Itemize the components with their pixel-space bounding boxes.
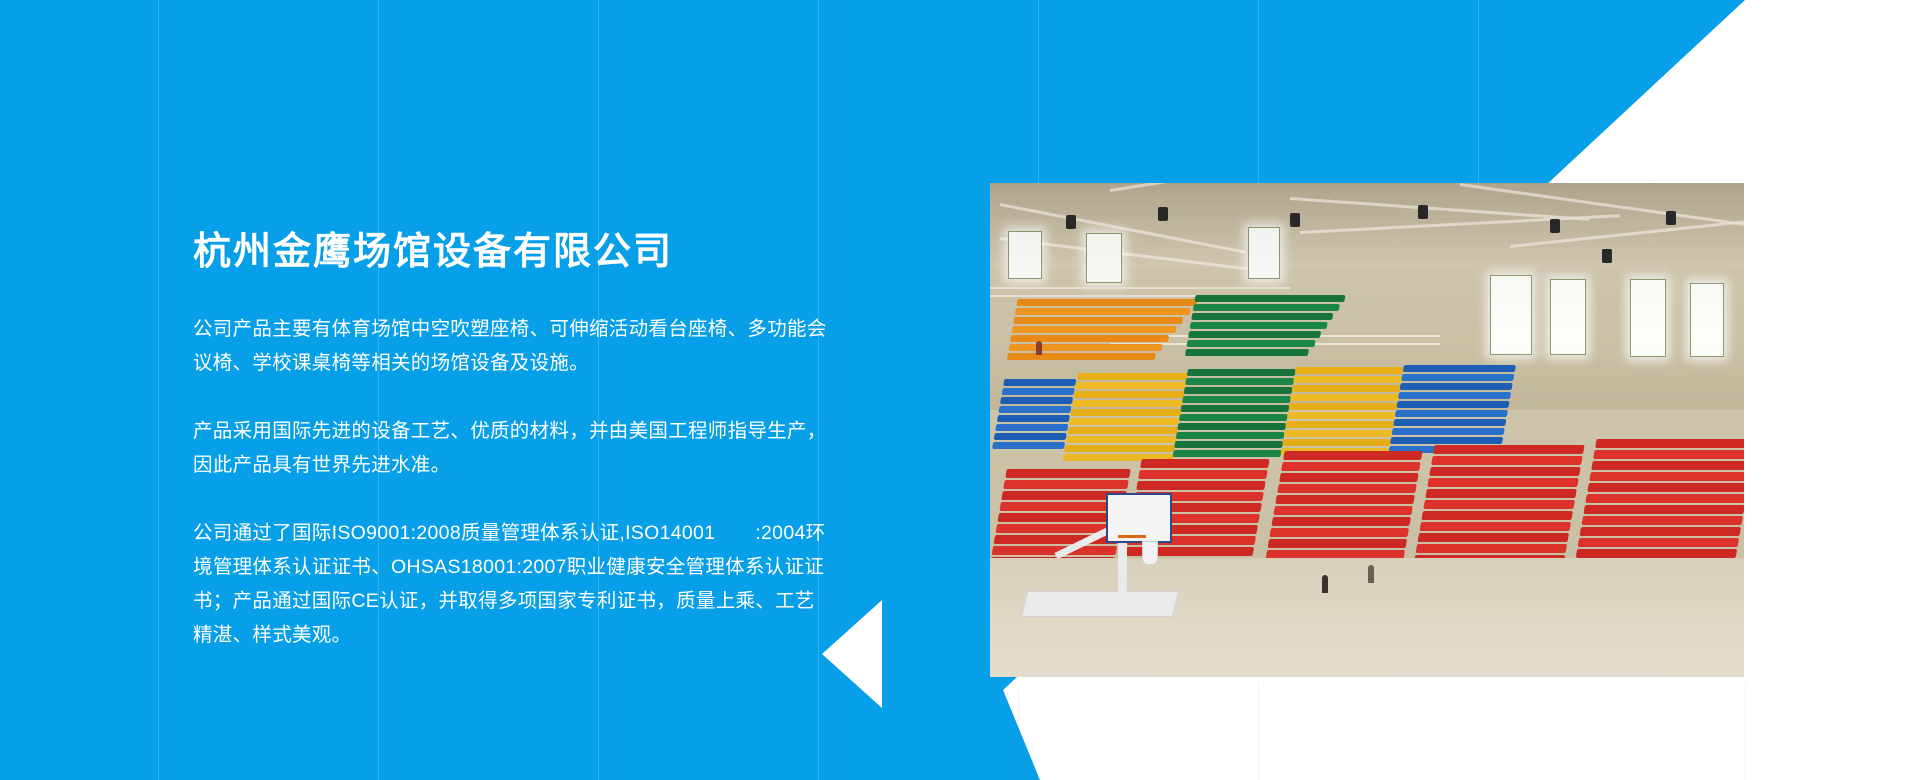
guide-line xyxy=(1258,684,1259,780)
photo-vignette xyxy=(990,183,1744,677)
gymnasium-photo-content xyxy=(990,183,1744,677)
intro-paragraph-quality: 产品采用国际先进的设备工艺、优质的材料，并由美国工程师指导生产，因此产品具有世界… xyxy=(193,414,833,482)
promo-banner: 杭州金鹰场馆设备有限公司 公司产品主要有体育场馆中空吹塑座椅、可伸缩活动看台座椅… xyxy=(0,0,1920,780)
banner-copy: 杭州金鹰场馆设备有限公司 公司产品主要有体育场馆中空吹塑座椅、可伸缩活动看台座椅… xyxy=(193,228,833,653)
certification-paragraph: 公司通过了国际ISO9001:2008质量管理体系认证,ISO14001:200… xyxy=(193,516,833,653)
gymnasium-photo xyxy=(990,183,1744,677)
intro-paragraph-products: 公司产品主要有体育场馆中空吹塑座椅、可伸缩活动看台座椅、多功能会议椅、学校课桌椅… xyxy=(193,312,833,380)
cert-line-prefix: 公司通过了国际ISO9001:2008质量管理体系认证,ISO14001 xyxy=(193,522,715,544)
cert-line-rest: 管理体系认证证书、OHSAS18001:2007职业健康安全管理体系认证证书；产… xyxy=(193,556,824,646)
company-title: 杭州金鹰场馆设备有限公司 xyxy=(193,228,833,274)
guide-line xyxy=(1745,684,1746,780)
